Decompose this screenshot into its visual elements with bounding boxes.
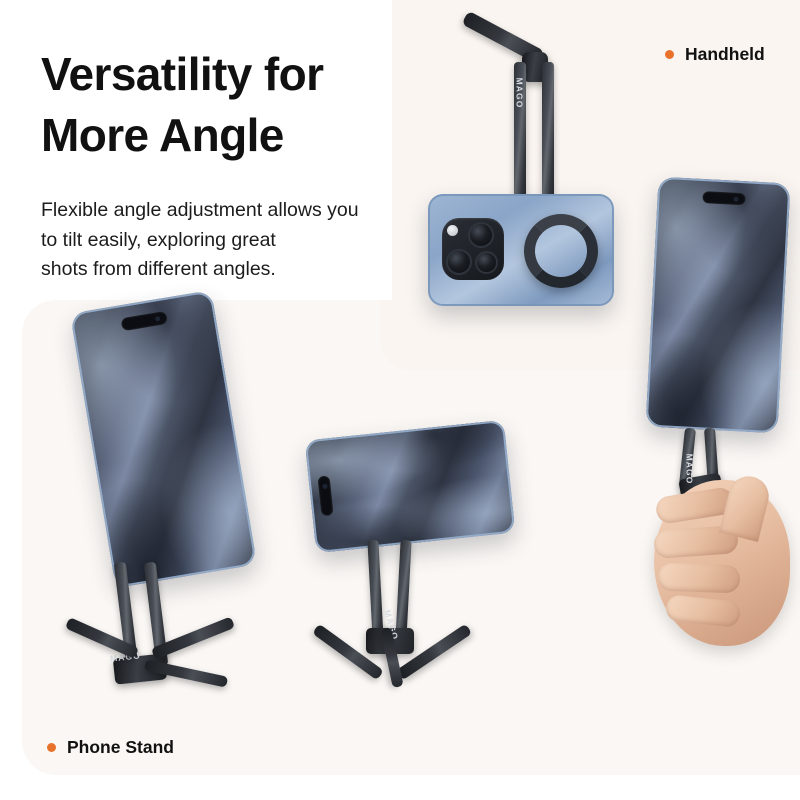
wallpaper-pattern xyxy=(646,177,791,434)
product-shot-handheld: MAGO xyxy=(640,180,800,650)
finger-ring xyxy=(658,563,741,594)
camera-lens-ultrawide xyxy=(446,249,472,275)
callout-label: Handheld xyxy=(685,44,765,65)
wallpaper-pattern xyxy=(305,420,516,553)
brand-label: MAGO xyxy=(684,454,694,485)
page-description: Flexible angle adjustment allows you to … xyxy=(41,196,411,285)
magsafe-ring-mount xyxy=(524,214,598,288)
tripod-left-post xyxy=(367,540,383,640)
camera-flash-icon xyxy=(447,225,458,236)
product-marketing-image: Versatility for More Angle Flexible angl… xyxy=(0,0,800,800)
camera-plate xyxy=(442,218,504,280)
bullet-dot-icon xyxy=(665,50,674,59)
phone-screen-stand xyxy=(70,290,257,588)
wallpaper-pattern xyxy=(70,290,257,588)
arm-right-post xyxy=(542,62,554,204)
product-shot-overhead-arm: MAGO xyxy=(418,26,648,336)
page-title: Versatility for More Angle xyxy=(41,44,401,165)
phone-screen-tripod xyxy=(305,420,516,553)
phone-screen-handheld xyxy=(646,177,791,434)
product-shot-phone-stand: MAGO xyxy=(58,300,308,720)
callout-phone-stand: Phone Stand xyxy=(47,737,174,758)
dynamic-island xyxy=(702,191,746,205)
bullet-dot-icon xyxy=(47,743,56,752)
product-shot-tripod: MAGO xyxy=(300,430,550,740)
brand-label: MAGO xyxy=(514,78,524,109)
camera-lens-main xyxy=(468,222,494,248)
tripod-right-post xyxy=(395,540,411,640)
phone-back-body xyxy=(428,194,614,306)
callout-handheld: Handheld xyxy=(665,44,765,65)
callout-label: Phone Stand xyxy=(67,737,174,758)
camera-lens-telephoto xyxy=(475,251,498,274)
